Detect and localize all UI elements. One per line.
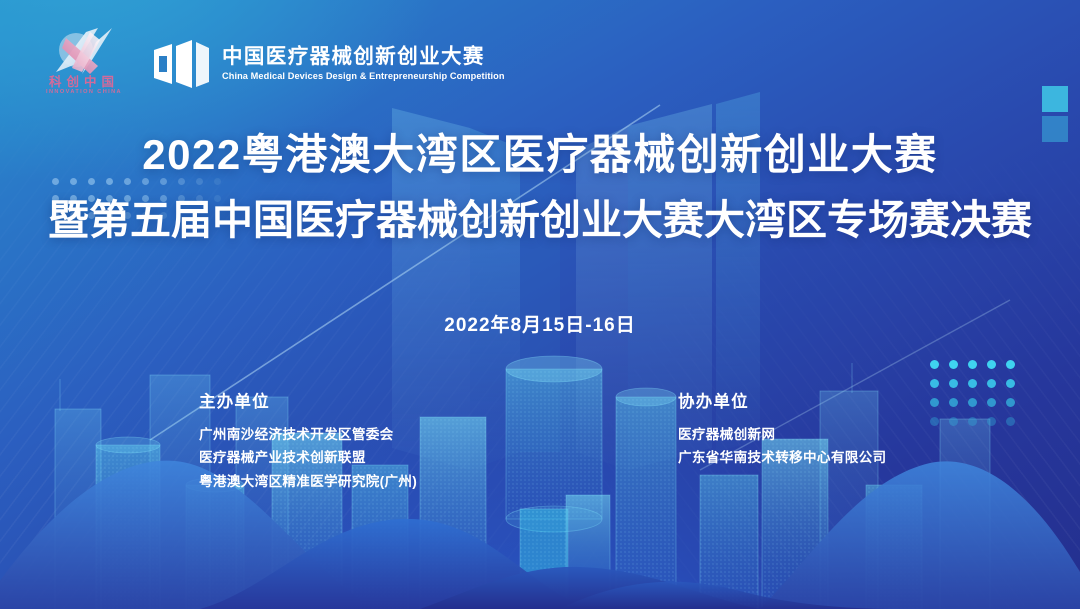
co-organizer-unit-entry: 广东省华南技术转移中心有限公司	[678, 446, 886, 469]
host-unit-entry: 医疗器械产业技术创新联盟	[199, 446, 417, 469]
open-book-mark-icon	[152, 40, 210, 88]
poster-banner: 科创中国 INNOVATION CHINA 中国医疗器械创新创业大赛 China…	[0, 0, 1080, 609]
host-unit-entry: 广州南沙经济技术开发区管委会	[199, 423, 417, 446]
competition-name-cn: 中国医疗器械创新创业大赛	[222, 46, 505, 69]
competition-name-en: China Medical Devices Design & Entrepren…	[222, 71, 505, 82]
competition-logo: 中国医疗器械创新创业大赛 China Medical Devices Desig…	[152, 40, 505, 88]
headline-line-1: 2022粤港澳大湾区医疗器械创新创业大赛	[0, 130, 1080, 180]
units-block: 主办单位 广州南沙经济技术开发区管委会 医疗器械产业技术创新联盟 粤港澳大湾区精…	[0, 388, 1080, 508]
co-organizer-unit-title: 协办单位	[678, 388, 886, 412]
header-logos: 科创中国 INNOVATION CHINA 中国医疗器械创新创业大赛 China…	[38, 26, 505, 100]
innovation-china-en: INNOVATION CHINA	[38, 90, 130, 96]
bird-logo-icon	[46, 26, 124, 78]
headline-line-2: 暨第五届中国医疗器械创新创业大赛大湾区专场赛决赛	[0, 196, 1080, 244]
co-organizer-unit-entry: 医疗器械创新网	[678, 423, 886, 446]
headline-block: 2022粤港澳大湾区医疗器械创新创业大赛 暨第五届中国医疗器械创新创业大赛大湾区…	[0, 130, 1080, 244]
host-unit-entry: 粤港澳大湾区精准医学研究院(广州)	[199, 470, 417, 493]
innovation-china-cn: 科创中国	[40, 76, 128, 89]
host-unit: 主办单位 广州南沙经济技术开发区管委会 医疗器械产业技术创新联盟 粤港澳大湾区精…	[199, 388, 417, 493]
co-organizer-unit: 协办单位 医疗器械创新网 广东省华南技术转移中心有限公司	[678, 388, 886, 470]
host-unit-title: 主办单位	[199, 388, 417, 412]
event-date: 2022年8月15日-16日	[0, 310, 1080, 337]
innovation-china-logo: 科创中国 INNOVATION CHINA	[38, 26, 130, 100]
